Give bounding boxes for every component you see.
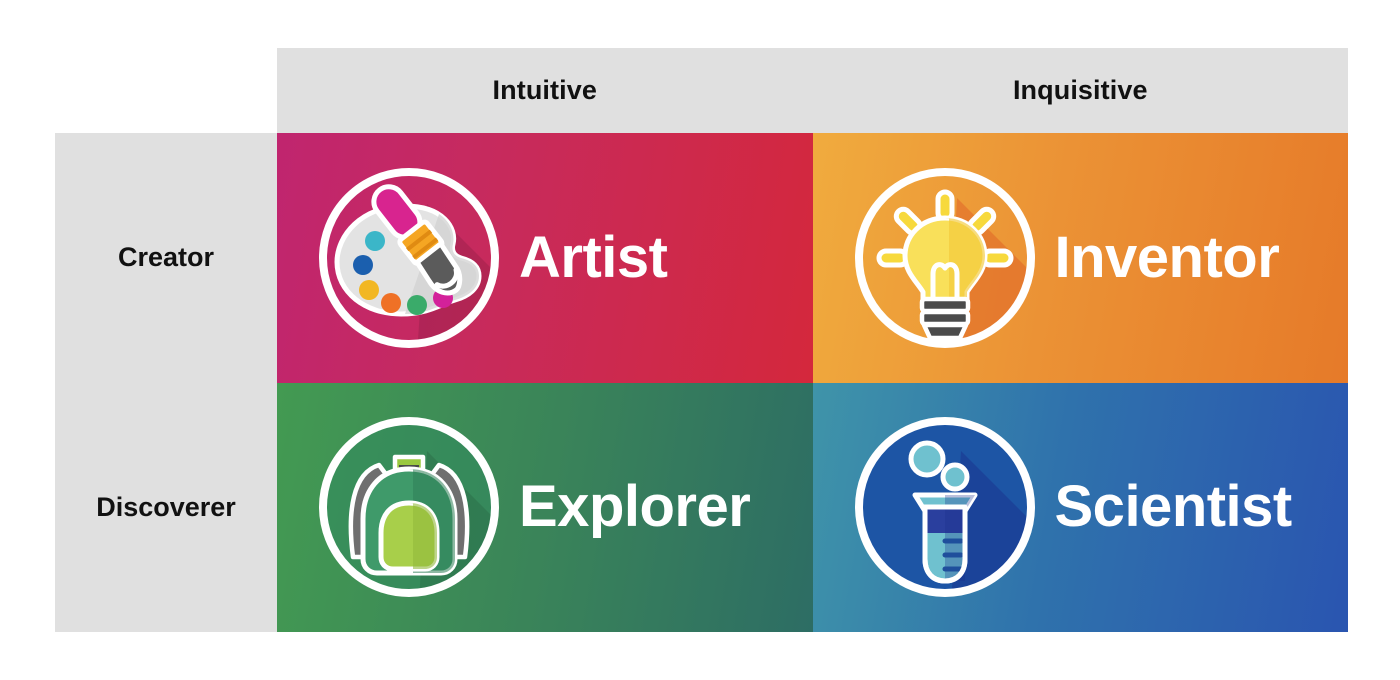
column-header-band: Intuitive Inquisitive: [277, 48, 1348, 133]
quadrant-label-scientist: Scientist: [1055, 478, 1349, 536]
persona-matrix: Intuitive Inquisitive Creator Discoverer: [0, 0, 1400, 680]
row-header-creator: Creator: [55, 133, 277, 383]
row-header-discoverer: Discoverer: [55, 383, 277, 633]
test-tube-icon: [845, 407, 1045, 607]
quadrant-scientist[interactable]: Scientist: [813, 383, 1349, 633]
column-header-inquisitive: Inquisitive: [813, 48, 1349, 133]
lightbulb-icon: [845, 158, 1045, 358]
column-header-intuitive: Intuitive: [277, 48, 813, 133]
quadrant-inventor[interactable]: Inventor: [813, 133, 1349, 383]
backpack-icon: [309, 407, 509, 607]
quadrant-label-artist: Artist: [519, 229, 813, 287]
quadrant-label-inventor: Inventor: [1055, 229, 1349, 287]
quadrant-artist[interactable]: Artist: [277, 133, 813, 383]
quadrant-explorer[interactable]: Explorer: [277, 383, 813, 633]
row-header-column: Creator Discoverer: [55, 133, 277, 632]
palette-icon: [309, 158, 509, 358]
quadrant-grid: Artist: [277, 133, 1348, 632]
quadrant-label-explorer: Explorer: [519, 478, 813, 536]
